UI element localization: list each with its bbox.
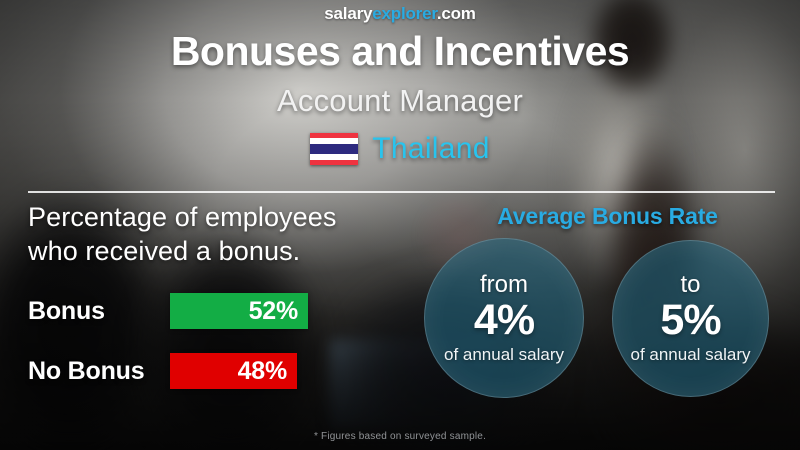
country-name: Thailand bbox=[372, 132, 489, 166]
bar-value-no-bonus: 48% bbox=[238, 357, 287, 386]
bar-track-no-bonus: 48% bbox=[170, 353, 428, 389]
logo-part-com: .com bbox=[437, 4, 476, 23]
bar-fill-no-bonus: 48% bbox=[170, 353, 297, 389]
circle-unit-to: of annual salary bbox=[630, 345, 750, 365]
left-caption-line-1: Percentage of employees bbox=[28, 200, 428, 234]
logo-part-explorer: explorer bbox=[372, 4, 437, 23]
country-row: Thailand bbox=[0, 128, 800, 170]
left-caption: Percentage of employees who received a b… bbox=[28, 200, 428, 268]
average-bonus-rate-panel: Average Bonus Rate from 4% of annual sal… bbox=[430, 202, 785, 230]
bonus-rate-circle-to: to 5% of annual salary bbox=[612, 240, 769, 397]
average-bonus-rate-title: Average Bonus Rate bbox=[430, 202, 785, 230]
site-logo[interactable]: salaryexplorer.com bbox=[0, 4, 800, 24]
left-caption-line-2: who received a bonus. bbox=[28, 234, 428, 268]
horizontal-divider bbox=[28, 191, 775, 193]
bonus-rate-circles: from 4% of annual salary to 5% of annual… bbox=[424, 238, 786, 403]
footnote: * Figures based on surveyed sample. bbox=[0, 431, 800, 442]
bar-track-bonus: 52% bbox=[170, 293, 428, 329]
logo-part-salary: salary bbox=[324, 4, 372, 23]
circle-prefix-to: to bbox=[680, 272, 700, 298]
bar-label-no-bonus: No Bonus bbox=[28, 357, 170, 386]
circle-value-from: 4% bbox=[474, 296, 534, 344]
bar-value-bonus: 52% bbox=[249, 297, 298, 326]
page-title: Bonuses and Incentives bbox=[0, 26, 800, 76]
circle-prefix-from: from bbox=[480, 272, 528, 298]
bar-row-no-bonus: No Bonus 48% bbox=[28, 353, 428, 389]
employees-percentage-panel: Percentage of employees who received a b… bbox=[28, 200, 428, 268]
job-title: Account Manager bbox=[0, 81, 800, 121]
bonus-rate-circle-from: from 4% of annual salary bbox=[424, 238, 584, 398]
bar-row-bonus: Bonus 52% bbox=[28, 293, 428, 329]
circle-unit-from: of annual salary bbox=[444, 345, 564, 365]
bar-label-bonus: Bonus bbox=[28, 297, 170, 326]
thailand-flag-icon bbox=[310, 133, 358, 165]
poster-content: salaryexplorer.com Bonuses and Incentive… bbox=[0, 0, 800, 450]
circle-value-to: 5% bbox=[660, 296, 720, 344]
infographic-poster: salaryexplorer.com Bonuses and Incentive… bbox=[0, 0, 800, 450]
bar-fill-bonus: 52% bbox=[170, 293, 308, 329]
